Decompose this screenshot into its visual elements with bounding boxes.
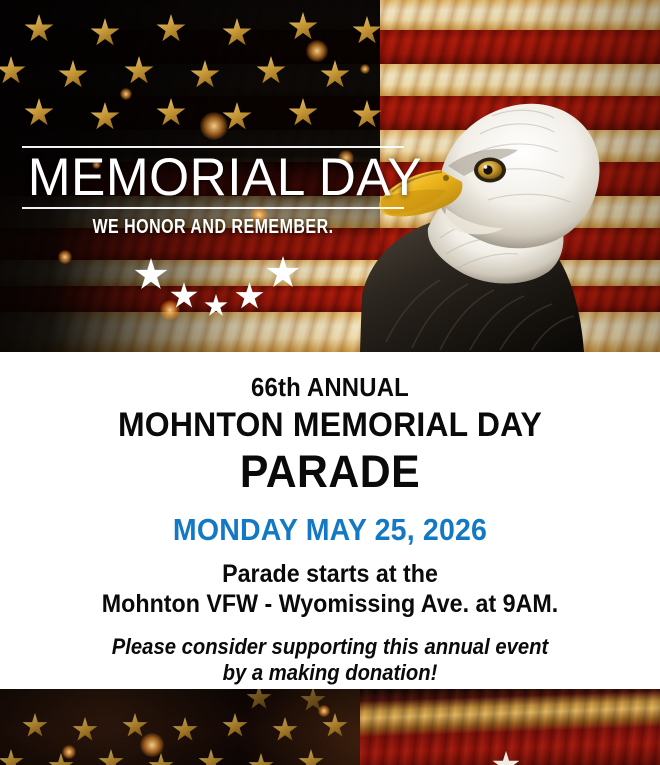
venue-and-time: Mohnton VFW - Wyomissing Ave. at 9AM. — [23, 590, 637, 619]
start-label: Parade starts at the — [23, 560, 637, 589]
american-flag-icon — [360, 689, 660, 765]
annual-edition-label: 66th ANNUAL — [26, 372, 633, 403]
event-date: MONDAY MAY 25, 2026 — [26, 512, 633, 548]
event-title: PARADE — [17, 446, 644, 498]
hero-title-block: MEMORIAL DAY WE HONOR AND REMEMBER. — [22, 146, 404, 239]
hero-title: MEMORIAL DAY — [28, 148, 399, 207]
event-details-block: 66th ANNUAL MOHNTON MEMORIAL DAY PARADE … — [0, 352, 660, 689]
donation-ask-line-1: Please consider supporting this annual e… — [26, 634, 633, 660]
memorial-day-parade-flyer: MEMORIAL DAY WE HONOR AND REMEMBER. 66th… — [0, 0, 660, 765]
title-rule-bottom — [22, 207, 404, 209]
hero-subtitle: WE HONOR AND REMEMBER. — [60, 216, 366, 239]
donation-ask-line-2: by a making donation! — [26, 660, 633, 686]
hero-banner: MEMORIAL DAY WE HONOR AND REMEMBER. — [0, 0, 660, 352]
footer-banner — [0, 689, 660, 765]
organization-title: MOHNTON MEMORIAL DAY — [20, 406, 640, 445]
